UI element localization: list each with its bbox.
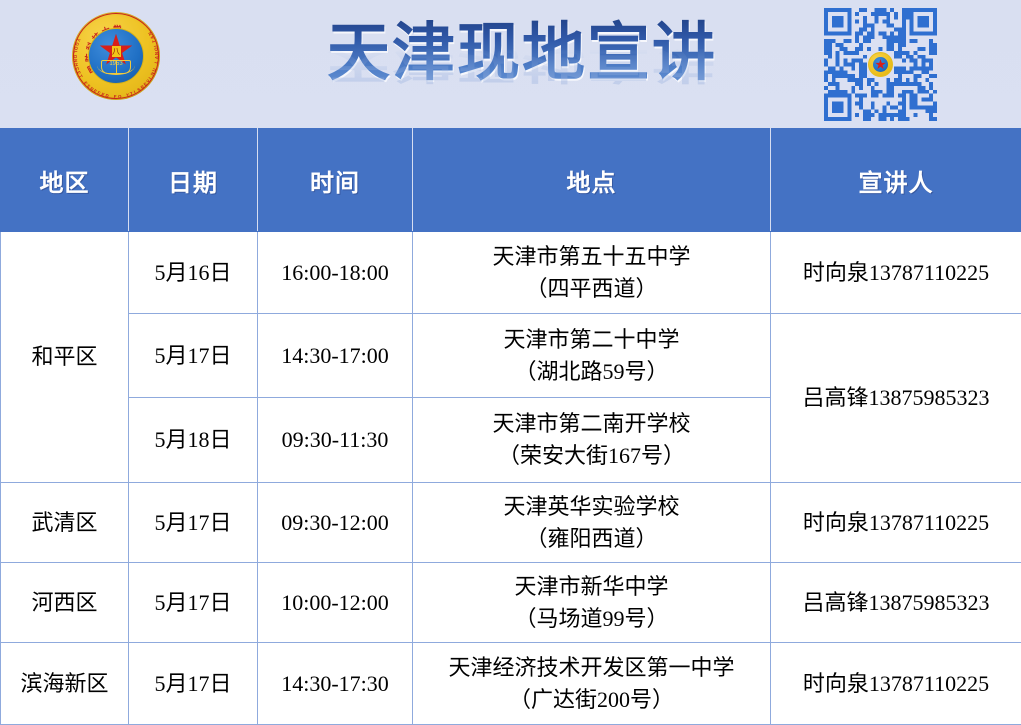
banner-header: 国防科技大学 NATIONAL UNIVERSITY OF DEFENSE TE… xyxy=(0,0,1021,128)
venue-address: （四平西道） xyxy=(414,273,769,305)
qr-code[interactable] xyxy=(824,8,937,121)
venue-name: 天津市第二十中学 xyxy=(414,324,769,356)
table-header: 地区 日期 时间 地点 宣讲人 xyxy=(1,129,1021,232)
cell-venue: 天津英华实验学校（雍阳西道） xyxy=(413,483,771,563)
poster-page: 国防科技大学 NATIONAL UNIVERSITY OF DEFENSE TE… xyxy=(0,0,1021,713)
venue-name: 天津英华实验学校 xyxy=(414,491,769,523)
table-header-row: 地区 日期 时间 地点 宣讲人 xyxy=(1,129,1021,232)
column-header-speaker: 宣讲人 xyxy=(771,129,1021,232)
qr-center-logo xyxy=(868,52,893,77)
table-row: 5月17日14:30-17:00天津市第二十中学（湖北路59号）吕高锋13875… xyxy=(1,314,1021,398)
cell-region: 滨海新区 xyxy=(1,643,129,725)
venue-address: （荣安大街167号） xyxy=(414,440,769,472)
cell-venue: 天津市新华中学（马场道99号） xyxy=(413,563,771,643)
venue-name: 天津市第五十五中学 xyxy=(414,241,769,273)
venue-address: （湖北路59号） xyxy=(414,356,769,388)
cell-speaker: 时向泉13787110225 xyxy=(771,483,1021,563)
banner-title-wrap: 天津现地宣讲 天津现地宣讲 xyxy=(292,14,752,126)
cell-date: 5月17日 xyxy=(129,314,258,398)
cell-date: 5月17日 xyxy=(129,563,258,643)
university-crest-logo: 国防科技大学 NATIONAL UNIVERSITY OF DEFENSE TE… xyxy=(72,12,160,100)
cell-speaker: 时向泉13787110225 xyxy=(771,643,1021,725)
venue-address: （广达街200号） xyxy=(414,684,769,716)
venue-address: （马场道99号） xyxy=(414,603,769,635)
cell-time: 10:00-12:00 xyxy=(258,563,413,643)
cell-time: 16:00-18:00 xyxy=(258,232,413,314)
table-body: 和平区5月16日16:00-18:00天津市第五十五中学（四平西道）时向泉137… xyxy=(1,232,1021,725)
schedule-table: 地区 日期 时间 地点 宣讲人 和平区5月16日16:00-18:00天津市第五… xyxy=(0,128,1021,725)
cell-venue: 天津市第二十中学（湖北路59号） xyxy=(413,314,771,398)
page-title-reflection: 天津现地宣讲 xyxy=(292,43,752,88)
crest-year-label: 1953 xyxy=(89,61,143,67)
cell-date: 5月16日 xyxy=(129,232,258,314)
column-header-region: 地区 xyxy=(1,129,129,232)
cell-venue: 天津经济技术开发区第一中学（广达街200号） xyxy=(413,643,771,725)
venue-name: 天津市第二南开学校 xyxy=(414,408,769,440)
table-row: 河西区5月17日10:00-12:00天津市新华中学（马场道99号）吕高锋138… xyxy=(1,563,1021,643)
cell-date: 5月18日 xyxy=(129,398,258,483)
column-header-date: 日期 xyxy=(129,129,258,232)
cell-speaker: 吕高锋13875985323 xyxy=(771,563,1021,643)
cell-time: 14:30-17:00 xyxy=(258,314,413,398)
table-row: 武清区5月17日09:30-12:00天津英华实验学校（雍阳西道）时向泉1378… xyxy=(1,483,1021,563)
cell-date: 5月17日 xyxy=(129,643,258,725)
crest-blue-disc: 八 1953 xyxy=(88,28,144,84)
cell-region: 河西区 xyxy=(1,563,129,643)
table-row: 滨海新区5月17日14:30-17:30天津经济技术开发区第一中学（广达街200… xyxy=(1,643,1021,725)
cell-speaker: 时向泉13787110225 xyxy=(771,232,1021,314)
column-header-time: 时间 xyxy=(258,129,413,232)
venue-name: 天津市新华中学 xyxy=(414,571,769,603)
cell-time: 09:30-12:00 xyxy=(258,483,413,563)
cell-time: 14:30-17:30 xyxy=(258,643,413,725)
cell-region: 和平区 xyxy=(1,232,129,483)
cell-venue: 天津市第二南开学校（荣安大街167号） xyxy=(413,398,771,483)
venue-address: （雍阳西道） xyxy=(414,523,769,555)
column-header-venue: 地点 xyxy=(413,129,771,232)
qr-center-star-icon xyxy=(875,59,886,70)
crest-star-center-char: 八 xyxy=(112,46,121,57)
cell-time: 09:30-11:30 xyxy=(258,398,413,483)
cell-date: 5月17日 xyxy=(129,483,258,563)
table-row: 和平区5月16日16:00-18:00天津市第五十五中学（四平西道）时向泉137… xyxy=(1,232,1021,314)
venue-name: 天津经济技术开发区第一中学 xyxy=(414,652,769,684)
cell-venue: 天津市第五十五中学（四平西道） xyxy=(413,232,771,314)
cell-region: 武清区 xyxy=(1,483,129,563)
cell-speaker: 吕高锋13875985323 xyxy=(771,314,1021,483)
